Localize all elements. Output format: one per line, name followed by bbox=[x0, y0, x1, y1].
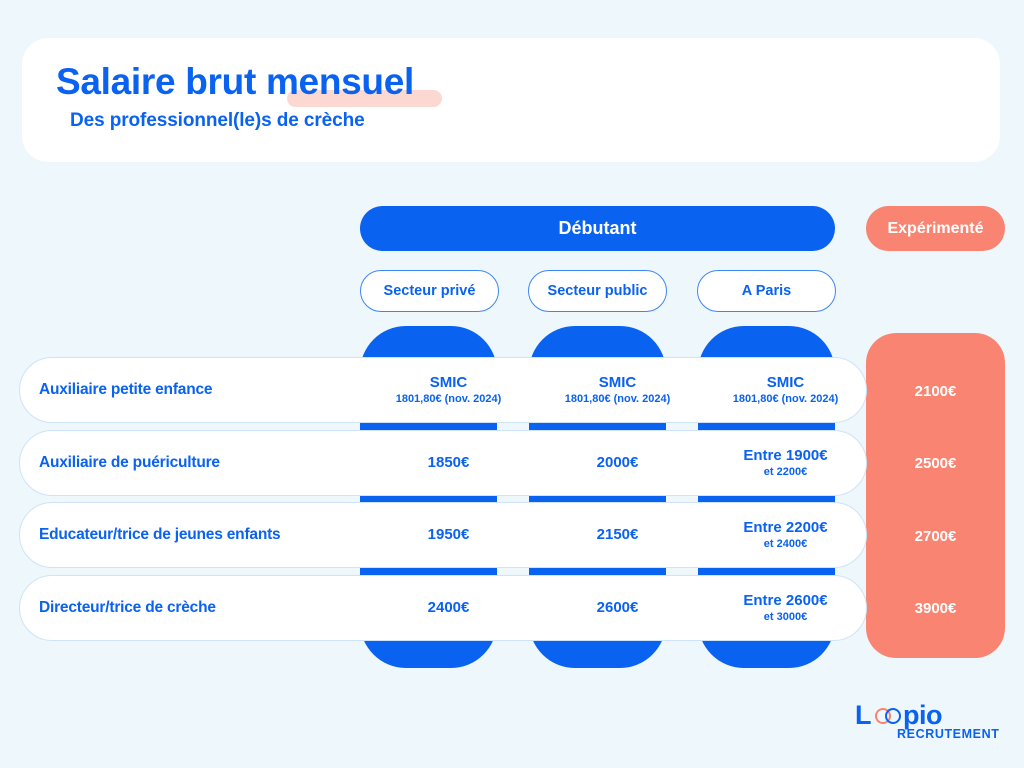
row-label: Auxiliaire de puériculture bbox=[39, 454, 359, 472]
group-header-debutant[interactable]: Débutant bbox=[360, 206, 835, 251]
page-subtitle: Des professionnel(le)s de crèche bbox=[70, 110, 365, 132]
cell-value: 2400€ bbox=[428, 599, 470, 616]
cell-a-paris: Entre 2200€ et 2400€ bbox=[698, 519, 873, 552]
cell-subvalue: 1801,80€ (nov. 2024) bbox=[698, 392, 873, 407]
cell-value: SMIC bbox=[599, 374, 637, 391]
cell-secteur-public: 2600€ bbox=[530, 599, 705, 617]
brand-logo[interactable]: Loopio RECRUTEMENT bbox=[855, 700, 990, 748]
cell-subvalue: 1801,80€ (nov. 2024) bbox=[530, 392, 705, 407]
cell-experimente: 2100€ bbox=[866, 383, 1005, 400]
row-label: Directeur/trice de crèche bbox=[39, 599, 359, 617]
cell-value: 2000€ bbox=[597, 454, 639, 471]
logo-name-prefix: L bbox=[855, 700, 871, 730]
cell-subvalue: et 3000€ bbox=[698, 610, 873, 625]
table-row[interactable]: Auxiliaire petite enfance SMIC 1801,80€ … bbox=[19, 357, 867, 423]
column-header-a-paris[interactable]: A Paris bbox=[697, 270, 836, 312]
cell-experimente: 2500€ bbox=[866, 455, 1005, 472]
cell-value: SMIC bbox=[767, 374, 805, 391]
cell-value: Entre 2200€ bbox=[743, 519, 827, 536]
cell-experimente: 3900€ bbox=[866, 600, 1005, 617]
table-row[interactable]: Auxiliaire de puériculture 1850€ 2000€ E… bbox=[19, 430, 867, 496]
cell-secteur-prive: 2400€ bbox=[361, 599, 536, 617]
cell-a-paris: Entre 1900€ et 2200€ bbox=[698, 447, 873, 480]
cell-subvalue: et 2400€ bbox=[698, 537, 873, 552]
cell-secteur-prive: SMIC 1801,80€ (nov. 2024) bbox=[361, 374, 536, 407]
cell-value: Entre 2600€ bbox=[743, 592, 827, 609]
cell-a-paris: Entre 2600€ et 3000€ bbox=[698, 592, 873, 625]
cell-secteur-public: 2150€ bbox=[530, 526, 705, 544]
cell-secteur-prive: 1850€ bbox=[361, 454, 536, 472]
cell-value: 2600€ bbox=[597, 599, 639, 616]
cell-secteur-public: 2000€ bbox=[530, 454, 705, 472]
logo-name-suffix: pio bbox=[903, 700, 942, 730]
cell-secteur-public: SMIC 1801,80€ (nov. 2024) bbox=[530, 374, 705, 407]
column-header-secteur-public[interactable]: Secteur public bbox=[528, 270, 667, 312]
cell-secteur-prive: 1950€ bbox=[361, 526, 536, 544]
cell-value: SMIC bbox=[430, 374, 468, 391]
title-wrap: Salaire brut mensuel bbox=[56, 60, 414, 104]
row-label: Educateur/trice de jeunes enfants bbox=[39, 526, 359, 544]
cell-a-paris: SMIC 1801,80€ (nov. 2024) bbox=[698, 374, 873, 407]
logo-ring-blue-icon bbox=[885, 708, 901, 724]
cell-value: 1850€ bbox=[428, 454, 470, 471]
cell-subvalue: 1801,80€ (nov. 2024) bbox=[361, 392, 536, 407]
row-label: Auxiliaire petite enfance bbox=[39, 381, 359, 399]
logo-tagline: RECRUTEMENT bbox=[897, 727, 999, 741]
page-title: Salaire brut mensuel bbox=[56, 60, 414, 104]
cell-value: Entre 1900€ bbox=[743, 447, 827, 464]
column-header-secteur-prive[interactable]: Secteur privé bbox=[360, 270, 499, 312]
group-header-experimente[interactable]: Expérimenté bbox=[866, 206, 1005, 251]
cell-value: 2150€ bbox=[597, 526, 639, 543]
header-card: Salaire brut mensuel Des professionnel(l… bbox=[22, 38, 1000, 162]
cell-value: 1950€ bbox=[428, 526, 470, 543]
cell-subvalue: et 2200€ bbox=[698, 465, 873, 480]
table-row[interactable]: Directeur/trice de crèche 2400€ 2600€ En… bbox=[19, 575, 867, 641]
cell-experimente: 2700€ bbox=[866, 528, 1005, 545]
table-row[interactable]: Educateur/trice de jeunes enfants 1950€ … bbox=[19, 502, 867, 568]
